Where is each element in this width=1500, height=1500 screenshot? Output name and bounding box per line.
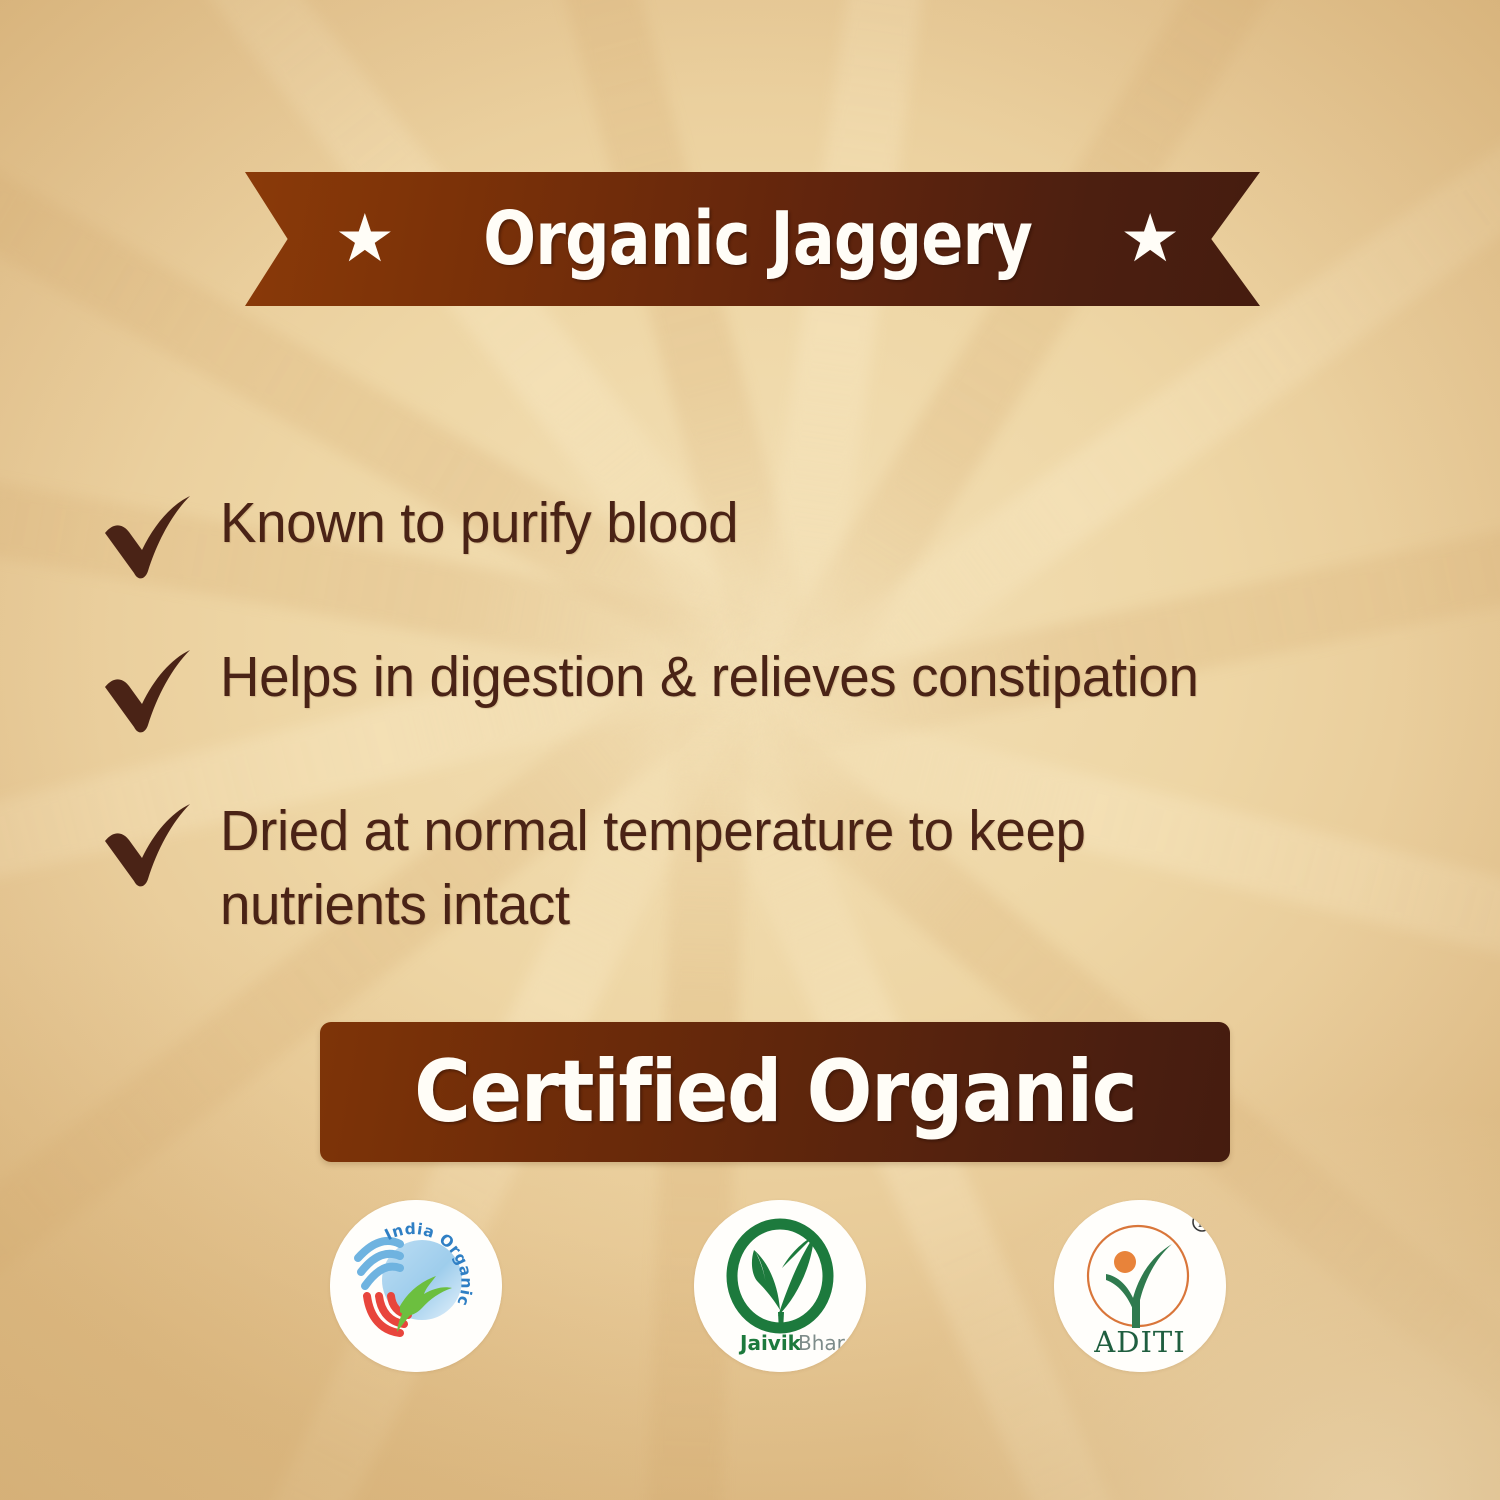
title-ribbon: Organic Jaggery (245, 172, 1260, 306)
certified-organic-banner: Certified Organic (320, 1022, 1230, 1162)
star-icon-left (339, 213, 391, 265)
aditi-logo: R ADITI (1054, 1200, 1226, 1372)
svg-text:ADITI: ADITI (1093, 1325, 1185, 1359)
svg-text:Bharat: Bharat (798, 1331, 865, 1355)
list-item: Helps in digestion & relieves constipati… (102, 640, 1422, 738)
check-icon (102, 800, 198, 892)
page-title: Organic Jaggery (483, 202, 1032, 276)
svg-text:R: R (1198, 1217, 1207, 1230)
jaivik-bharat-logo: Jaivik Bharat (694, 1200, 866, 1372)
benefits-list: Known to purify blood Helps in digestion… (102, 486, 1422, 998)
list-item-label: Dried at normal temperature to keep nutr… (220, 794, 1257, 942)
star-icon-right (1124, 213, 1176, 265)
list-item-label: Known to purify blood (220, 486, 738, 560)
list-item: Known to purify blood (102, 486, 1422, 584)
check-icon (102, 492, 198, 584)
list-item-label: Helps in digestion & relieves constipati… (220, 640, 1199, 714)
certification-logos: India Organic Jaivik Bharat (0, 1200, 1500, 1380)
india-organic-logo: India Organic (330, 1200, 502, 1372)
check-icon (102, 646, 198, 738)
product-feature-poster: Organic Jaggery Known to purify blood He… (0, 0, 1500, 1500)
certified-organic-label: Certified Organic (414, 1049, 1136, 1135)
list-item: Dried at normal temperature to keep nutr… (102, 794, 1422, 942)
svg-text:Jaivik: Jaivik (738, 1331, 802, 1355)
